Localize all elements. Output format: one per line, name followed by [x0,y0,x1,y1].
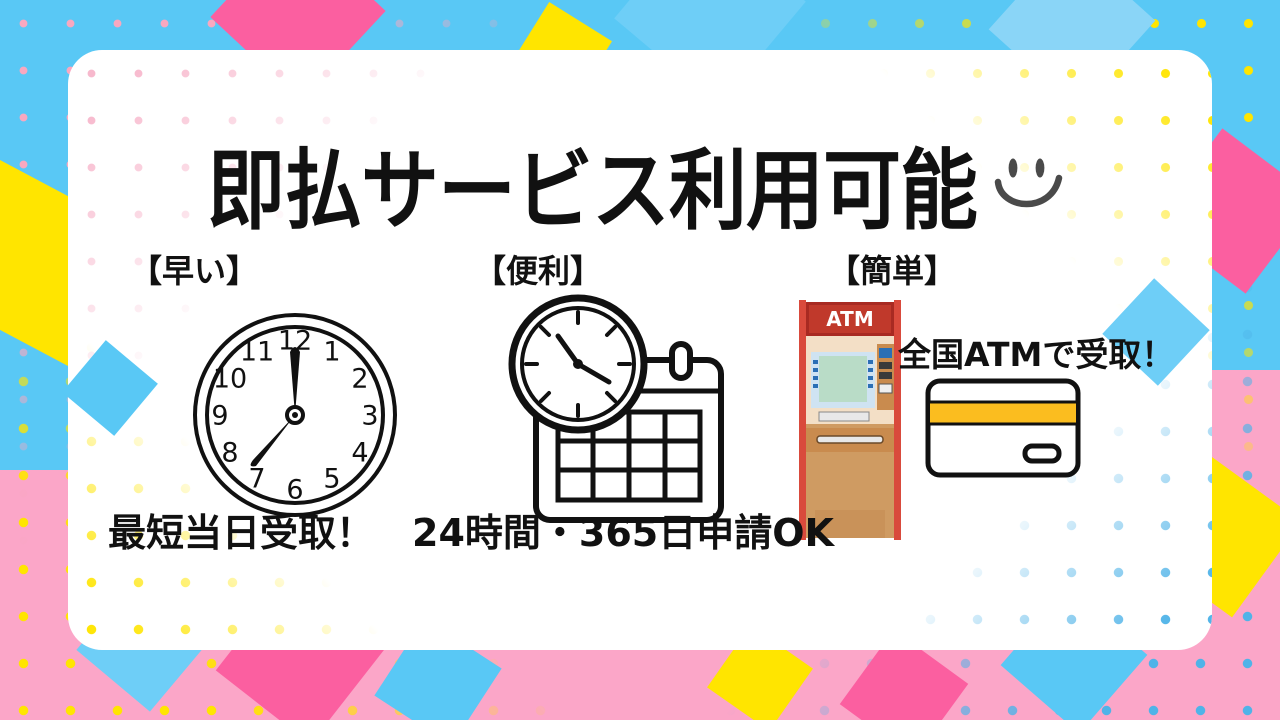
svg-text:8: 8 [221,438,238,469]
svg-text:4: 4 [351,438,368,469]
feature-label-row: 【早い】 【便利】 【簡単】 [68,246,1212,294]
svg-text:6: 6 [286,475,303,506]
poster-title: 即払サービス利用可能 [68,128,1212,240]
poster-canvas: 即払サービス利用可能 【早い】 【便利】 【簡単】 [0,0,1280,720]
feature-label-hayai: 【早い】 [130,246,258,292]
atm-sign-text: ATM [826,307,873,331]
atm-callout-text: 全国ATMで受取！ [898,328,1174,376]
poster-content: 即払サービス利用可能 【早い】 【便利】 【簡単】 [68,50,1212,650]
credit-card-icon [923,376,1083,480]
svg-text:1: 1 [323,337,340,368]
bottom-tagline: 最短当日受取！ 24時間・365日申請OK [68,502,1212,557]
poster-title-text: 即払サービス利用可能 [207,121,977,246]
svg-text:5: 5 [323,464,340,495]
feature-label-kantan: 【簡単】 [828,246,956,292]
svg-text:2: 2 [351,364,368,395]
svg-text:11: 11 [240,337,274,368]
svg-text:3: 3 [361,401,378,432]
feature-label-benri: 【便利】 [474,246,602,292]
svg-text:9: 9 [211,401,228,432]
poster-card: 即払サービス利用可能 【早い】 【便利】 【簡単】 [68,50,1212,650]
svg-text:10: 10 [213,364,247,395]
svg-text:7: 7 [248,464,265,495]
smiley-face-icon [985,148,1073,220]
